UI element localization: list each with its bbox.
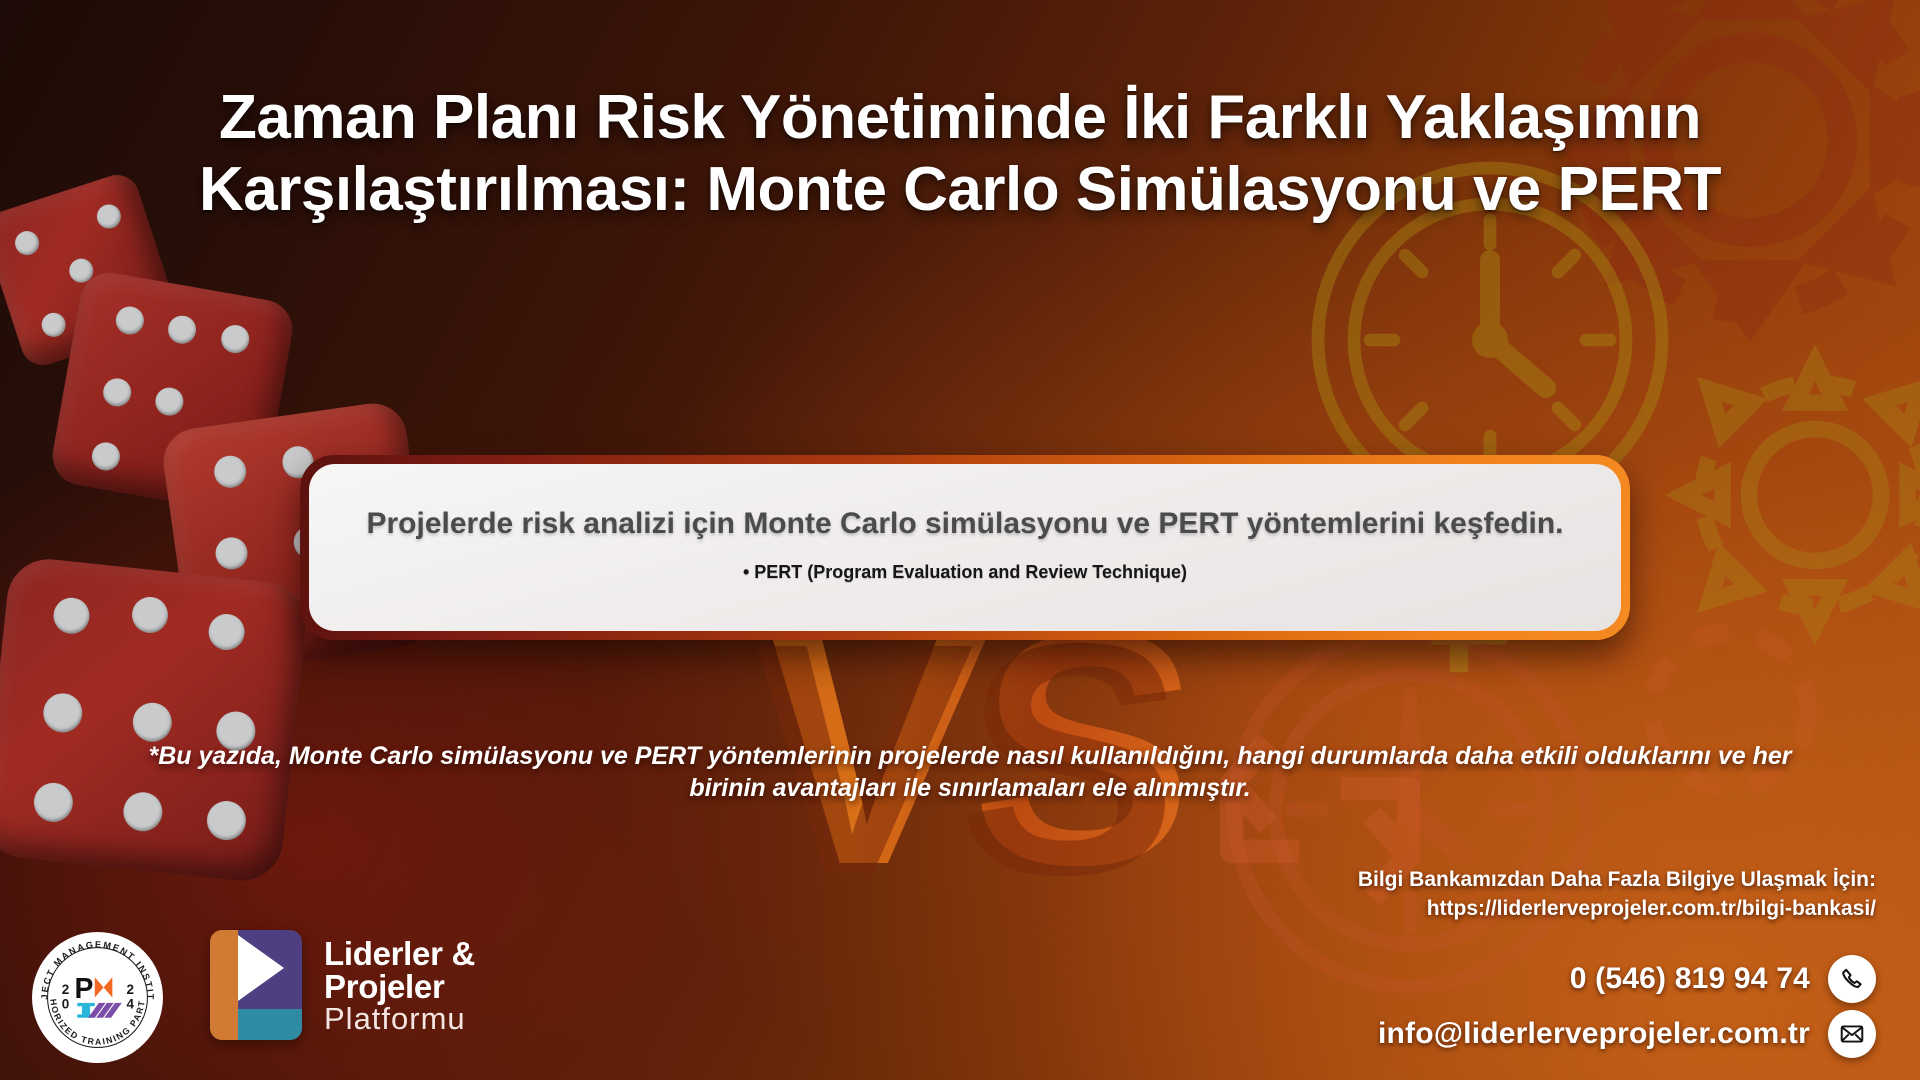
phone-row[interactable]: 0 (546) 819 94 74 [1570, 955, 1876, 1003]
svg-text:P: P [75, 973, 94, 1005]
pmi-atp-badge: PROJECT MANAGEMENT INSTITUTE AUTHORIZED … [30, 930, 165, 1065]
content-card: Projelerde risk analizi için Monte Carlo… [300, 455, 1630, 640]
brand-mark-right [238, 930, 302, 1040]
brand-line-1: Liderler & [324, 937, 475, 970]
svg-text:4: 4 [127, 996, 135, 1011]
mail-icon[interactable] [1828, 1010, 1876, 1058]
footnote-text: *Bu yazıda, Monte Carlo simülasyonu ve P… [120, 740, 1820, 804]
page-title: Zaman Planı Risk Yönetiminde İki Farklı … [120, 82, 1800, 227]
pmi-year-right: 2 [127, 982, 135, 997]
clock-icon [1200, 600, 1620, 1020]
card-bullet-list: PERT (Program Evaluation and Review Tech… [743, 559, 1187, 585]
gear-icon [1650, 330, 1920, 660]
knowledge-base-url[interactable]: https://liderlerveprojeler.com.tr/bilgi-… [1358, 895, 1876, 924]
phone-number: 0 (546) 819 94 74 [1570, 962, 1810, 996]
die-4 [0, 555, 310, 885]
knowledge-base-label: Bilgi Bankamızdan Daha Fazla Bilgiye Ula… [1358, 866, 1876, 895]
phone-icon[interactable] [1828, 955, 1876, 1003]
brand-mark-bar [210, 930, 238, 1040]
brand-mark-teal [238, 1009, 302, 1040]
svg-text:0: 0 [62, 996, 70, 1011]
knowledge-base-block: Bilgi Bankamızdan Daha Fazla Bilgiye Ula… [1358, 866, 1876, 924]
brand-wordmark: Liderler & Projeler Platformu [324, 937, 475, 1034]
poster-canvas: VS [0, 0, 1920, 1080]
brand-mark-icon [210, 930, 302, 1040]
card-heading: Projelerde risk analizi için Monte Carlo… [366, 506, 1563, 543]
play-triangle-icon [238, 930, 302, 1009]
email-address: info@liderlerveprojeler.com.tr [1378, 1017, 1810, 1051]
email-row[interactable]: info@liderlerveprojeler.com.tr [1378, 1010, 1876, 1058]
list-item: PERT (Program Evaluation and Review Tech… [743, 559, 1187, 585]
brand-logo: Liderler & Projeler Platformu [210, 930, 475, 1040]
content-card-inner: Projelerde risk analizi için Monte Carlo… [309, 464, 1621, 631]
pmi-year-left: 2 [62, 982, 70, 997]
brand-line-3: Platformu [324, 1003, 475, 1034]
brand-line-2: Projeler [324, 970, 475, 1003]
die-2 [48, 268, 297, 517]
